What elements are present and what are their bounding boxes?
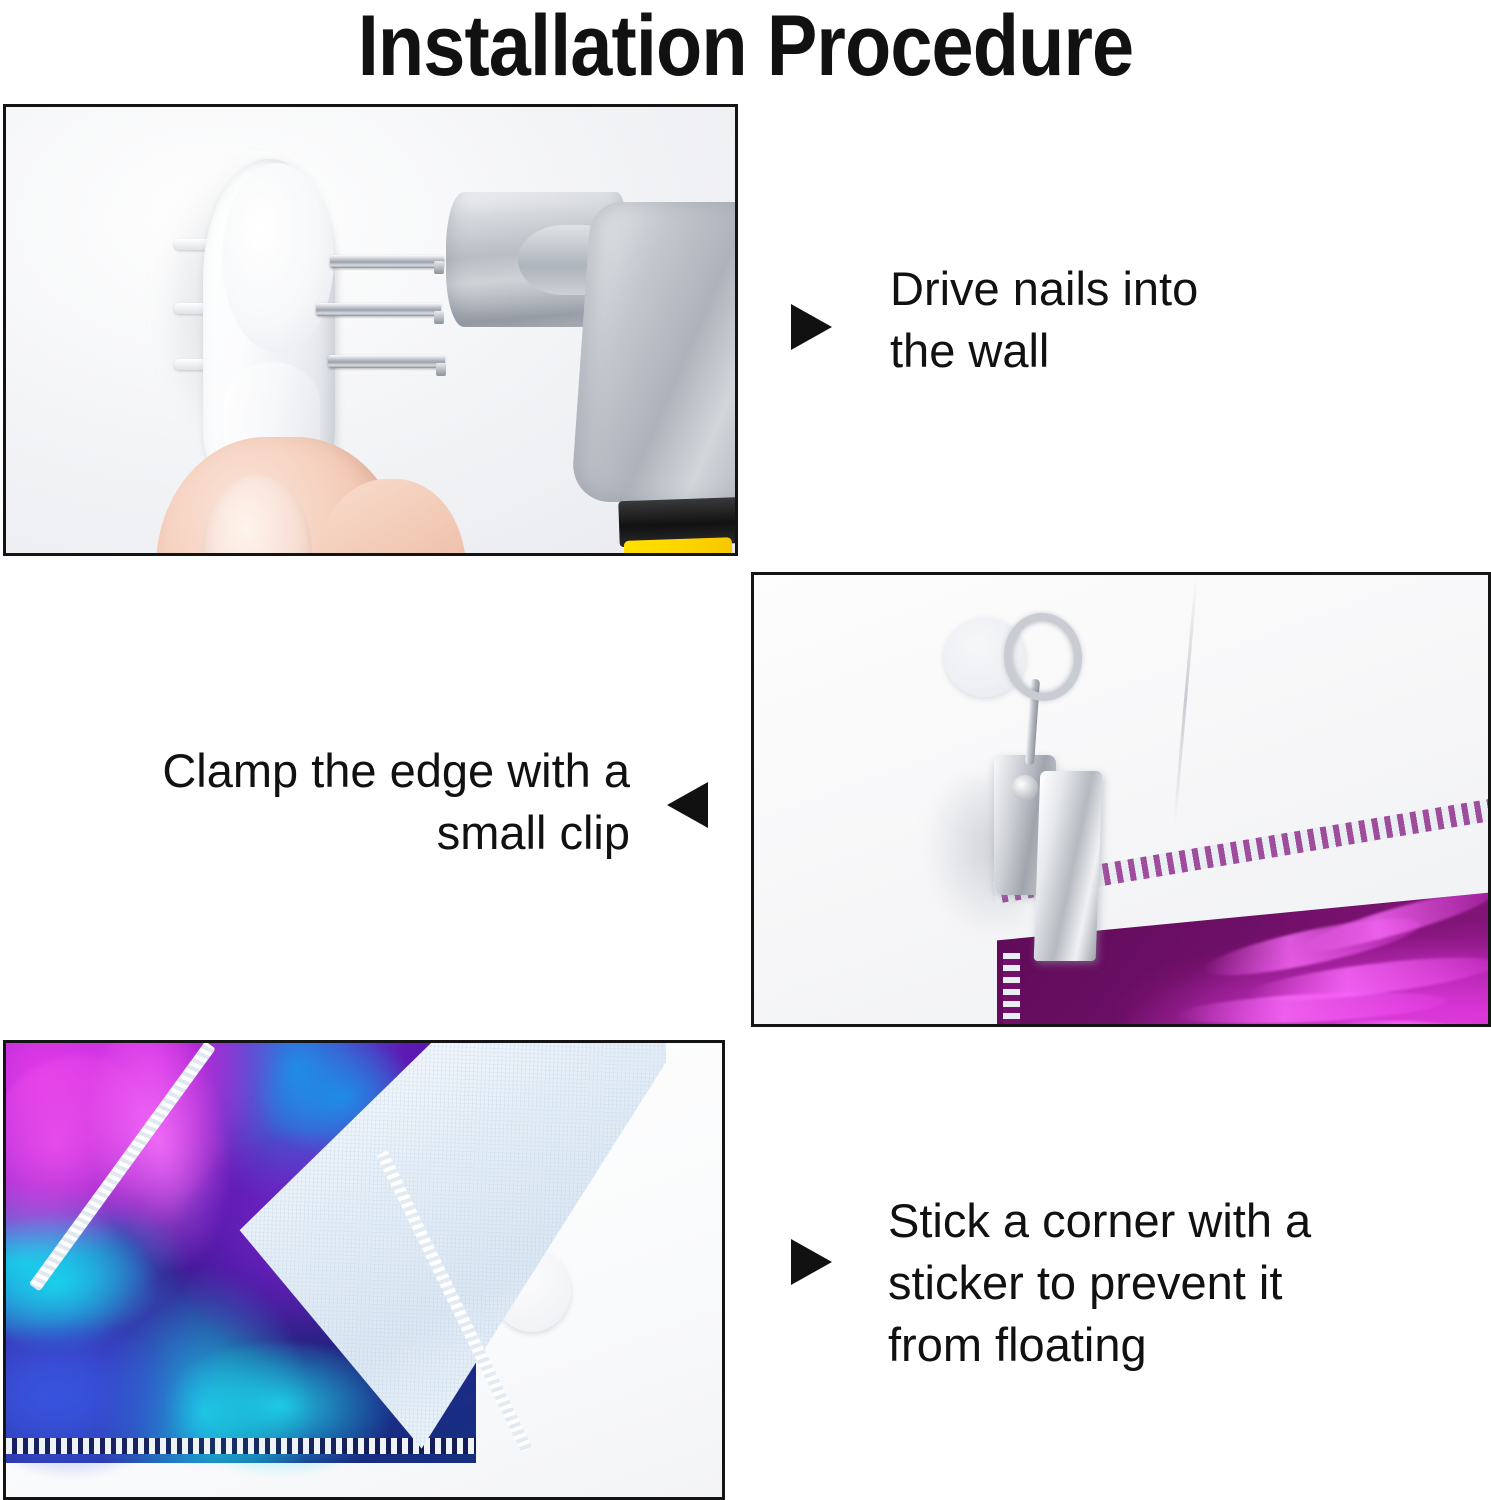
hook-face-plate — [222, 163, 334, 353]
step-2-caption: Clamp the edge with a small clip — [60, 740, 630, 864]
arrow-right-icon — [791, 1239, 832, 1285]
hammer-handle — [624, 537, 736, 556]
clip-pivot — [1012, 775, 1038, 801]
overlock-stitching-bottom — [6, 1438, 476, 1454]
nail-middle-tip — [434, 311, 444, 324]
hammer-shank — [571, 202, 738, 502]
clip-lever — [1034, 771, 1103, 961]
step-1-photo — [3, 104, 738, 556]
step-2-photo — [751, 572, 1491, 1027]
step-1-caption: Drive nails into the wall — [890, 258, 1310, 382]
nail-bottom — [328, 355, 445, 368]
overlock-stitching-left — [1003, 953, 1020, 1027]
blue-swirl — [3, 1323, 186, 1483]
arrow-right-icon — [791, 304, 832, 350]
step-3-caption: Stick a corner with a sticker to prevent… — [888, 1190, 1368, 1376]
arrow-left-icon — [667, 782, 708, 828]
nail-middle — [316, 303, 441, 316]
nail-top-tip — [434, 261, 444, 274]
nail-bottom-tip — [436, 363, 446, 376]
step-3-photo — [3, 1040, 725, 1500]
page-title: Installation Procedure — [89, 0, 1401, 96]
nail-top — [330, 255, 444, 268]
